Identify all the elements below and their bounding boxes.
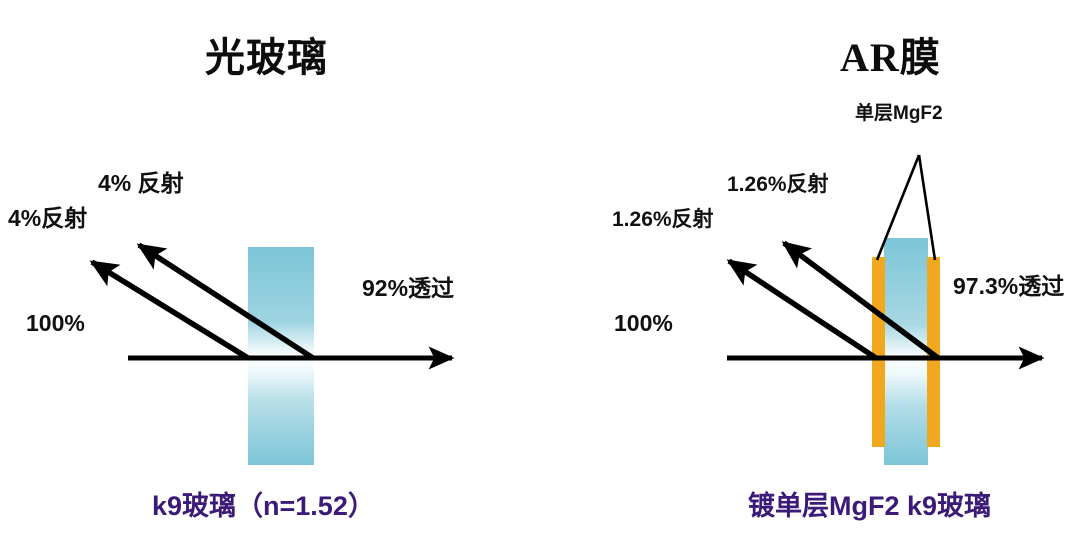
right-glass-core [884, 238, 928, 465]
diagram-canvas: 光玻璃 4% 反射 4%反射 100% 92%透过 k9玻璃（n=1.52） A… [0, 0, 1080, 559]
optics-vector-layer [0, 0, 1080, 559]
right-coating-layer-front [872, 257, 885, 447]
left-front-reflection-arrow [92, 262, 248, 358]
right-front-reflection-arrow [729, 261, 876, 358]
